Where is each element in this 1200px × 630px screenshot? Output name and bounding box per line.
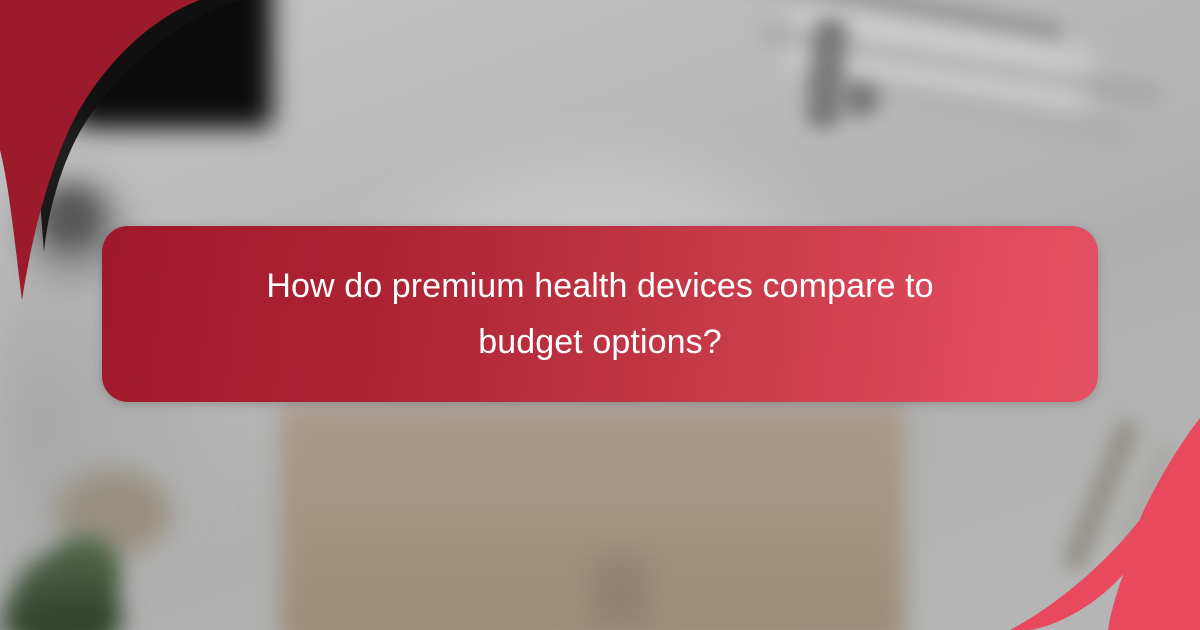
page-title: How do premium health devices compare to… [220,258,980,370]
social-card-canvas: How do premium health devices compare to… [0,0,1200,630]
background-dark-device [72,0,272,128]
background-rack-hook-knob [840,82,880,116]
headline-banner: How do premium health devices compare to… [102,226,1098,402]
background-desk-shadow [590,555,650,627]
